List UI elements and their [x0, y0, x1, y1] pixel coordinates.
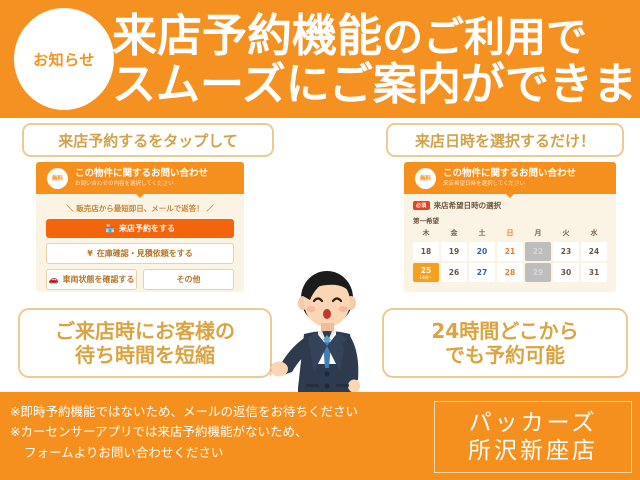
- banner-header: お知らせ 来店予約機能のご利用で スムーズにご案内ができます: [0, 0, 640, 118]
- day-number: 19: [449, 247, 459, 256]
- day-cell[interactable]: 24: [581, 242, 607, 261]
- store-logo: パッカーズ 所沢新座店: [434, 401, 632, 473]
- day-cell[interactable]: 20: [469, 242, 495, 261]
- day-cell[interactable]: 31: [581, 263, 607, 282]
- dow-cell: 日: [497, 228, 523, 239]
- free-badge: 無料: [47, 168, 68, 189]
- day-number: 22: [533, 247, 543, 256]
- banner-footer: ※即時予約機能ではないため、メールの返信をお待ちください ※カーセンサーアプリで…: [0, 392, 640, 480]
- day-number: 31: [589, 268, 599, 277]
- benefit-callout-right: 24時間どこから でも予約可能: [382, 308, 628, 378]
- day-number: 24: [589, 247, 599, 256]
- calendar-widget: 必須 来店希望日時の選択 第一希望 木 金 土 日 月 火 水 18 19 20: [404, 194, 616, 282]
- notice-badge-label: お知らせ: [14, 8, 114, 110]
- day-cell[interactable]: 23: [553, 242, 579, 261]
- headline-line1-tail: のご利用で: [382, 13, 587, 61]
- calendar-header-bar: 無料 この物件に関するお問い合わせ 来店希望日時を選択してください: [404, 162, 616, 194]
- day-cell-disabled: 29: [525, 263, 551, 282]
- footer-note-1: ※即時予約機能ではないため、メールの返信をお待ちください: [10, 402, 420, 422]
- day-cell[interactable]: 30: [553, 263, 579, 282]
- banner-body: 来店予約するをタップして 来店日時を選択するだけ！ 無料 この物件に関するお問い…: [0, 118, 640, 392]
- day-cell[interactable]: 27: [469, 263, 495, 282]
- pointer-notch-icon: [506, 194, 514, 198]
- step-label-right: 来店日時を選択するだけ！: [386, 123, 624, 157]
- vehicle-condition-label: 車両状態を確認する: [62, 274, 134, 285]
- day-cell[interactable]: 26: [441, 263, 467, 282]
- calendar-mockup-title: この物件に関するお問い合わせ: [443, 168, 576, 179]
- day-number: 27: [477, 268, 487, 277]
- vehicle-condition-button[interactable]: 🚗 車両状態を確認する: [46, 269, 137, 290]
- benefit-right-line2: でも予約可能: [445, 343, 565, 367]
- calendar-mockup: 無料 この物件に関するお問い合わせ 来店希望日時を選択してください 必須 来店希…: [404, 162, 616, 292]
- day-number: 18: [421, 247, 431, 256]
- other-button[interactable]: その他: [143, 269, 234, 290]
- stock-quote-label: 在庫確認・見積依頼をする: [97, 248, 193, 259]
- day-cell[interactable]: 18: [413, 242, 439, 261]
- pointer-notch-icon: [136, 194, 144, 198]
- mockup-title: この物件に関するお問い合わせ: [75, 168, 208, 179]
- dow-cell: 水: [581, 228, 607, 239]
- footer-note-3: フォームよりお問い合わせください: [10, 443, 420, 463]
- other-label: その他: [177, 274, 201, 285]
- day-number: 26: [449, 268, 459, 277]
- day-number: 25: [421, 266, 431, 275]
- reserve-visit-label: 来店予約をする: [119, 223, 175, 234]
- calendar-dow-row: 木 金 土 日 月 火 水: [413, 228, 607, 239]
- mockup-subtitle: お問い合わせの内容を選択してください: [75, 181, 208, 188]
- benefit-left-line2: 待ち時間を短縮: [75, 343, 215, 367]
- yen-icon: ¥: [87, 249, 93, 258]
- store-name-line2: 所沢新座店: [468, 437, 598, 465]
- day-number: 23: [561, 247, 571, 256]
- day-number: 29: [533, 268, 543, 277]
- day-number: 30: [561, 268, 571, 277]
- step-label-left: 来店予約するをタップして: [22, 123, 274, 157]
- footer-note-2: ※カーセンサーアプリでは来店予約機能がないため、: [10, 422, 420, 442]
- day-number: 21: [505, 247, 515, 256]
- dow-cell: 火: [553, 228, 579, 239]
- footer-notes: ※即時予約機能ではないため、メールの返信をお待ちください ※カーセンサーアプリで…: [10, 402, 420, 463]
- dow-cell: 木: [413, 228, 439, 239]
- calendar-mockup-subtitle: 来店希望日時を選択してください: [443, 181, 576, 188]
- day-cell[interactable]: 21: [497, 242, 523, 261]
- calendar-days-grid: 18 19 20 21 22 23 24 25 14時～ 26 27 28 29…: [413, 242, 607, 282]
- headline-line2: スムーズにご案内ができます: [112, 63, 634, 108]
- car-icon: 🚗: [49, 275, 59, 284]
- required-tag: 必須: [413, 201, 430, 210]
- stock-quote-button[interactable]: ¥ 在庫確認・見積依頼をする: [46, 243, 234, 264]
- calendar-title: 来店希望日時の選択: [434, 200, 502, 211]
- benefit-right-line1: 24時間どこから: [431, 319, 578, 343]
- inquiry-form-mockup: 無料 この物件に関するお問い合わせ お問い合わせの内容を選択してください ＼ 販…: [36, 162, 244, 292]
- header-headline: 来店予約機能のご利用で スムーズにご案内ができます: [112, 6, 634, 114]
- headline-keyword: 来店予約機能: [112, 9, 382, 62]
- day-cell[interactable]: 19: [441, 242, 467, 261]
- day-number: 20: [477, 247, 487, 256]
- day-cell[interactable]: 28: [497, 263, 523, 282]
- reserve-visit-button[interactable]: 🏪 来店予約をする: [46, 219, 234, 238]
- store-icon: 🏪: [105, 224, 115, 233]
- day-time-hint: 14時～: [419, 276, 432, 280]
- dow-cell: 月: [525, 228, 551, 239]
- dow-cell: 金: [441, 228, 467, 239]
- store-name-line1: パッカーズ: [469, 409, 598, 437]
- free-badge: 無料: [415, 168, 436, 189]
- promo-banner: お知らせ 来店予約機能のご利用で スムーズにご案内ができます 来店予約するをタッ…: [0, 0, 640, 480]
- benefit-callout-left: ご来店時にお客様の 待ち時間を短縮: [18, 308, 272, 378]
- day-number: 28: [505, 268, 515, 277]
- benefit-left-line1: ご来店時にお客様の: [55, 319, 235, 343]
- first-choice-label: 第一希望: [413, 215, 607, 225]
- dow-cell: 土: [469, 228, 495, 239]
- day-cell-disabled: 22: [525, 242, 551, 261]
- mockup-header-bar: 無料 この物件に関するお問い合わせ お問い合わせの内容を選択してください: [36, 162, 244, 194]
- day-cell-selected[interactable]: 25 14時～: [413, 263, 439, 282]
- mockup-lead-text: ＼ 販売店から最短即日、メールで返答！ ／: [36, 203, 244, 214]
